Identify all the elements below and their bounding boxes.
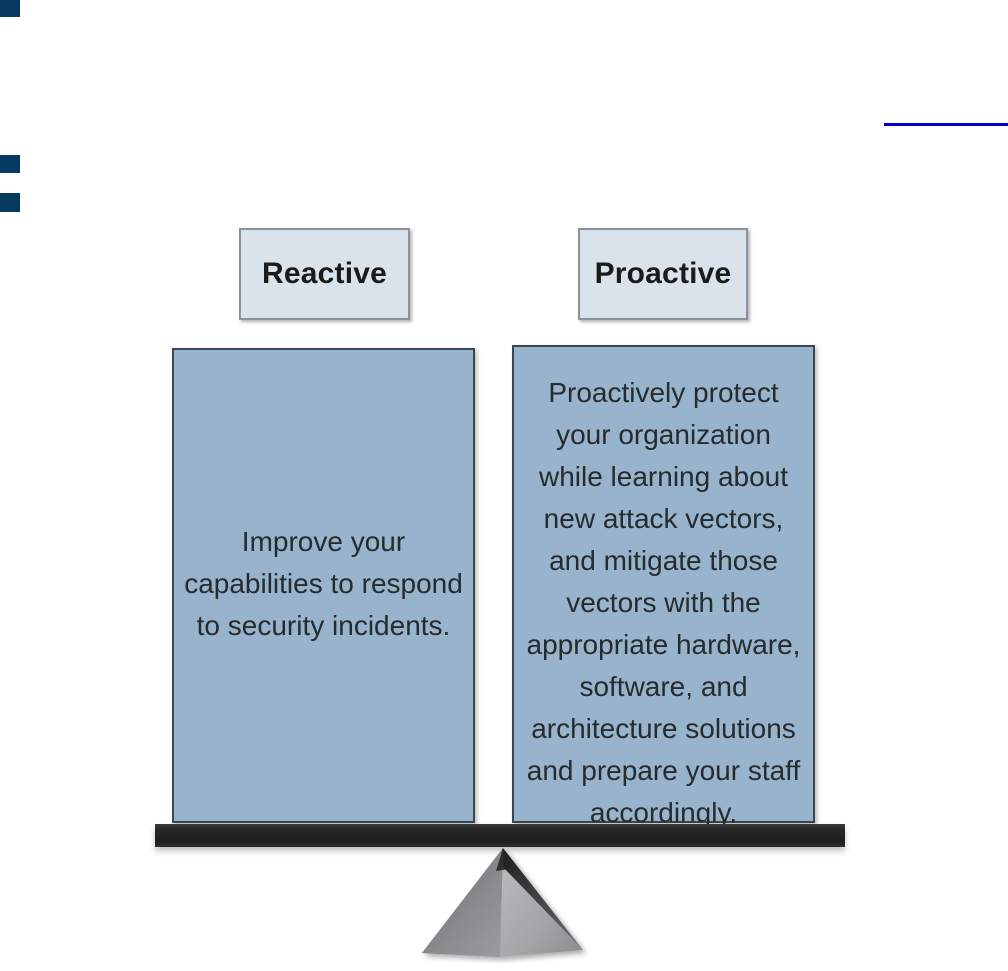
caption-box-reactive: Reactive [239,228,410,320]
fulcrum-pyramid-icon [408,845,604,963]
caption-box-proactive: Proactive [578,228,748,320]
weight-panel-reactive: Improve your capabilities to respond to … [172,348,475,823]
weight-panel-reactive-text: Improve your capabilities to respond to … [174,521,473,651]
balance-scale-diagram: Reactive Proactive Improve your capabili… [0,0,1008,971]
caption-label-proactive: Proactive [595,259,732,289]
weight-panel-proactive-text: Proactively protect your organization wh… [514,347,813,834]
balance-beam [155,824,845,847]
caption-label-reactive: Reactive [262,259,387,289]
weight-panel-proactive: Proactively protect your organization wh… [512,345,815,823]
